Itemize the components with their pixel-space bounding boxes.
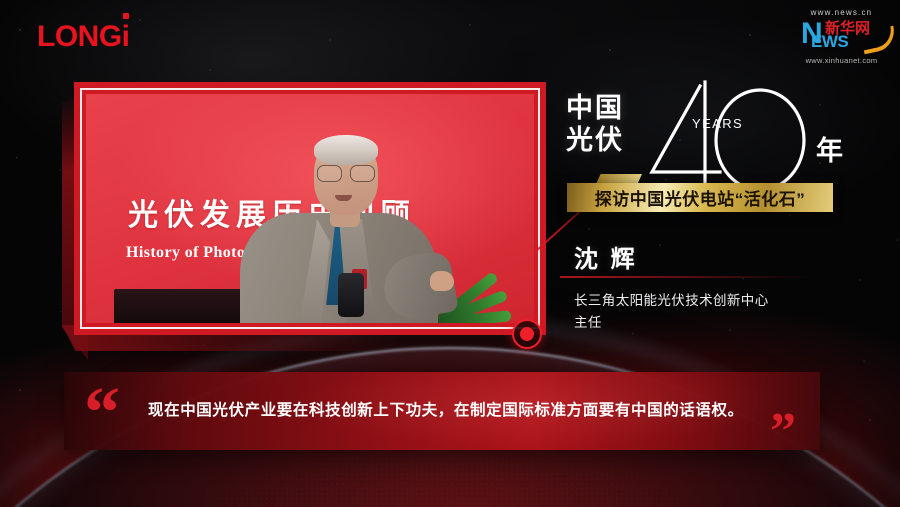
person-role: 主任 <box>574 312 602 334</box>
photo-frame: 光伏发展历史回顾 History of Photovoltaic Develop <box>74 82 546 335</box>
longi-logo-text: LONG <box>37 20 122 53</box>
forty-years-numeral: YEARS <box>642 80 822 198</box>
interview-photo[interactable]: 光伏发展历史回顾 History of Photovoltaic Develop <box>74 82 546 335</box>
speaker-portrait-icon <box>234 94 444 323</box>
name-underline <box>560 276 810 278</box>
news-logo-mark: N EWS 新华网 <box>789 19 894 55</box>
photo-media: 光伏发展历史回顾 History of Photovoltaic Develop <box>86 94 534 323</box>
person-name: 沈 辉 <box>574 239 638 274</box>
campaign-title-line1: 中国 <box>566 92 624 124</box>
longi-logo[interactable]: LONGi <box>37 22 130 52</box>
subtitle-banner-text: 探访中国光伏电站“活化石” <box>595 185 806 210</box>
campaign-title-suffix: 年 <box>816 136 843 166</box>
longi-logo-i-dot: i <box>122 22 130 52</box>
poster-stage: LONGi www.news.cn N EWS 新华网 www.xinhuane… <box>0 0 900 507</box>
campaign-title-line2: 光伏 <box>566 124 624 156</box>
glasses-icon <box>316 165 376 181</box>
quote-bar: “ 现在中国光伏产业要在科技创新上下功夫，在制定国际标准方面要有中国的话语权。 … <box>64 372 820 450</box>
quote-open-mark-icon: “ <box>84 386 120 438</box>
microphone-icon <box>338 273 364 317</box>
subtitle-gold-banner: 探访中国光伏电站“活化石” <box>567 183 833 212</box>
xinhua-news-logo[interactable]: www.news.cn N EWS 新华网 www.xinhuanet.com <box>789 8 894 70</box>
location-dot-icon <box>512 319 542 349</box>
speaker-hair <box>314 135 378 165</box>
speaker-hand <box>430 271 454 291</box>
person-organization: 长三角太阳能光伏技术创新中心 <box>574 290 769 312</box>
forty-numeral-svg <box>642 80 822 198</box>
quote-text: 现在中国光伏产业要在科技创新上下功夫，在制定国际标准方面要有中国的话语权。 <box>148 398 780 424</box>
quote-close-mark-icon: ” <box>770 412 796 452</box>
campaign-title-chinese: 中国 光伏 <box>566 92 624 156</box>
news-url-bottom: www.xinhuanet.com <box>789 56 894 65</box>
years-label: YEARS <box>692 116 743 131</box>
